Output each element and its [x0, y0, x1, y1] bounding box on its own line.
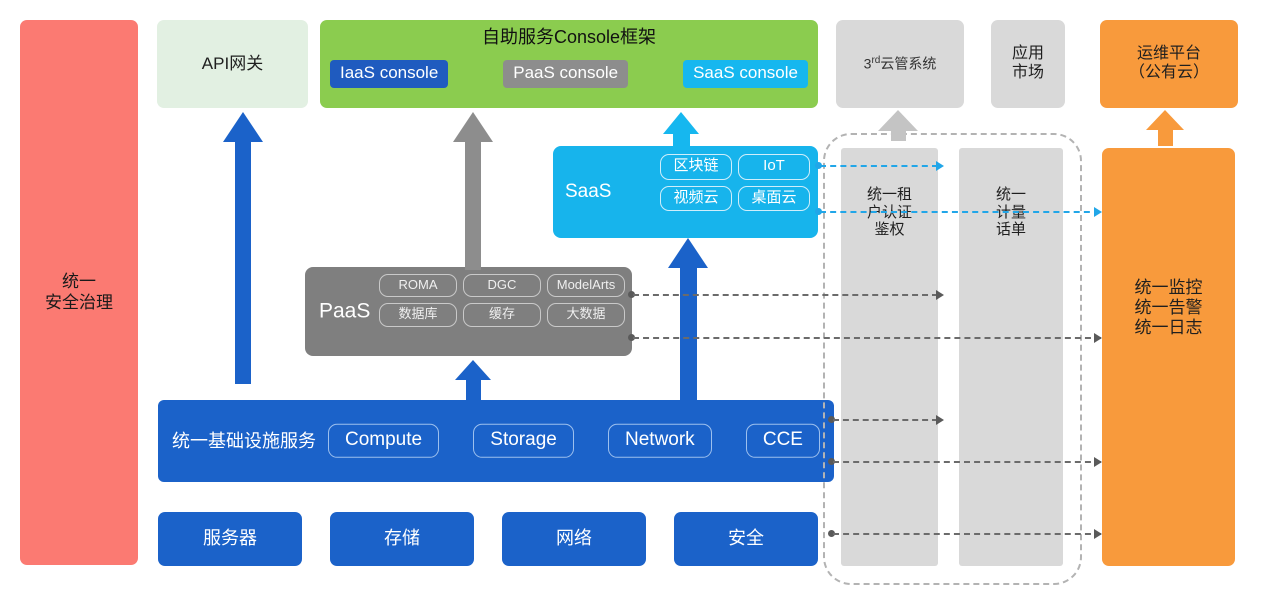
arrow-iaas-to-paas [455, 360, 491, 400]
third-party-suffix: 云管系统 [880, 56, 936, 72]
paas-block[interactable]: PaaS ROMA DGC ModelArts 数据库 缓存 大数据 [305, 267, 632, 356]
console-pill-group: IaaS console PaaS console SaaS console [330, 60, 808, 88]
arrow-paas-to-console [453, 112, 493, 270]
app-market-line1: 应用 [1012, 45, 1044, 64]
tenant-auth-line3: 鉴权 [867, 221, 912, 239]
security-governance-line1: 统一 [45, 272, 113, 292]
arrow-ops-column-to-ops-top [1146, 110, 1184, 146]
infra-box-server[interactable]: 服务器 [158, 512, 302, 566]
architecture-diagram: 统一 安全治理 API网关 自助服务Console框架 IaaS console… [0, 0, 1265, 605]
ops-platform-top-line1: 运维平台 [1129, 45, 1209, 64]
api-gateway-label: API网关 [202, 54, 263, 74]
connector-saas-to-ops-column [820, 211, 1100, 213]
saas-chip-blockchain[interactable]: 区块链 [660, 154, 732, 180]
third-party-cloud-mgmt-label: 3rd云管系统 [864, 55, 937, 72]
metering-line1: 统一 [996, 186, 1026, 204]
security-governance-line2: 安全治理 [45, 293, 113, 313]
saas-block[interactable]: SaaS 区块链 IoT 视频云 桌面云 [553, 146, 818, 238]
connector-arrowhead-saas-ops [1094, 207, 1102, 217]
security-governance-column[interactable]: 统一 安全治理 [20, 20, 138, 565]
connector-arrowhead-paas-auth [936, 290, 944, 300]
console-frame-box[interactable]: 自助服务Console框架 IaaS console PaaS console … [320, 20, 818, 108]
iaas-bar-label: 统一基础设施服务 [172, 430, 316, 451]
connector-arrowhead-iaas-ops [1094, 457, 1102, 467]
connector-arrowhead-iaas-auth [936, 415, 944, 425]
paas-chip-database[interactable]: 数据库 [379, 303, 457, 326]
connector-saas-to-tenant-auth [820, 165, 938, 167]
connector-arrowhead-saas-auth [936, 161, 944, 171]
third-party-cloud-mgmt-box[interactable]: 3rd云管系统 [836, 20, 964, 108]
infra-box-storage[interactable]: 存储 [330, 512, 474, 566]
saas-block-label: SaaS [565, 181, 611, 203]
metering-line3: 话单 [996, 221, 1026, 239]
ops-column-line1: 统一监控 [1135, 278, 1203, 298]
console-frame-title: 自助服务Console框架 [320, 27, 818, 48]
iaas-inner-row: 统一基础设施服务 Compute Storage Network CCE [172, 424, 820, 458]
arrow-saas-to-saas-console [663, 112, 699, 150]
ops-column-line3: 统一日志 [1135, 318, 1203, 338]
connector-iaas-to-ops-column [833, 461, 1101, 463]
iaas-infrastructure-bar[interactable]: 统一基础设施服务 Compute Storage Network CCE [158, 400, 834, 482]
saas-chip-grid: 区块链 IoT 视频云 桌面云 [660, 154, 810, 211]
iaas-chip-network[interactable]: Network [608, 424, 712, 458]
ops-platform-column[interactable]: 统一监控 统一告警 统一日志 [1102, 148, 1235, 566]
connector-paas-to-ops-column [633, 337, 1101, 339]
saas-console-pill[interactable]: SaaS console [683, 60, 808, 88]
saas-chip-desktop-cloud[interactable]: 桌面云 [738, 186, 810, 212]
tenant-auth-line1: 统一租 [867, 186, 912, 204]
third-party-superscript: rd [871, 55, 880, 66]
ops-column-line2: 统一告警 [1135, 298, 1203, 318]
paas-chip-grid: ROMA DGC ModelArts 数据库 缓存 大数据 [379, 274, 625, 327]
arrow-iaas-to-saas [668, 238, 708, 400]
ops-platform-top-box[interactable]: 运维平台 （公有云） [1100, 20, 1238, 108]
api-gateway-box[interactable]: API网关 [157, 20, 308, 108]
infra-box-network[interactable]: 网络 [502, 512, 646, 566]
iaas-chip-cce[interactable]: CCE [746, 424, 820, 458]
paas-chip-roma[interactable]: ROMA [379, 274, 457, 297]
connector-iaas-to-tenant-auth [833, 419, 938, 421]
connector-arrowhead-infra-ops [1094, 529, 1102, 539]
iaas-chip-group: Compute Storage Network CCE [328, 424, 820, 458]
iaas-chip-storage[interactable]: Storage [473, 424, 574, 458]
paas-chip-modelarts[interactable]: ModelArts [547, 274, 625, 297]
connector-arrowhead-paas-ops [1094, 333, 1102, 343]
connector-infra-to-ops-column [833, 533, 1101, 535]
paas-chip-cache[interactable]: 缓存 [463, 303, 541, 326]
saas-chip-iot[interactable]: IoT [738, 154, 810, 180]
paas-chip-bigdata[interactable]: 大数据 [547, 303, 625, 326]
arrow-iaas-to-api-gateway [223, 112, 263, 384]
paas-block-label: PaaS [319, 299, 370, 324]
app-market-line2: 市场 [1012, 64, 1044, 83]
saas-chip-video-cloud[interactable]: 视频云 [660, 186, 732, 212]
infra-box-security[interactable]: 安全 [674, 512, 818, 566]
iaas-console-pill[interactable]: IaaS console [330, 60, 448, 88]
paas-chip-dgc[interactable]: DGC [463, 274, 541, 297]
iaas-chip-compute[interactable]: Compute [328, 424, 439, 458]
ops-platform-top-line2: （公有云） [1129, 64, 1209, 83]
paas-console-pill[interactable]: PaaS console [503, 60, 628, 88]
connector-paas-to-tenant-auth [633, 294, 938, 296]
app-market-box[interactable]: 应用 市场 [991, 20, 1065, 108]
